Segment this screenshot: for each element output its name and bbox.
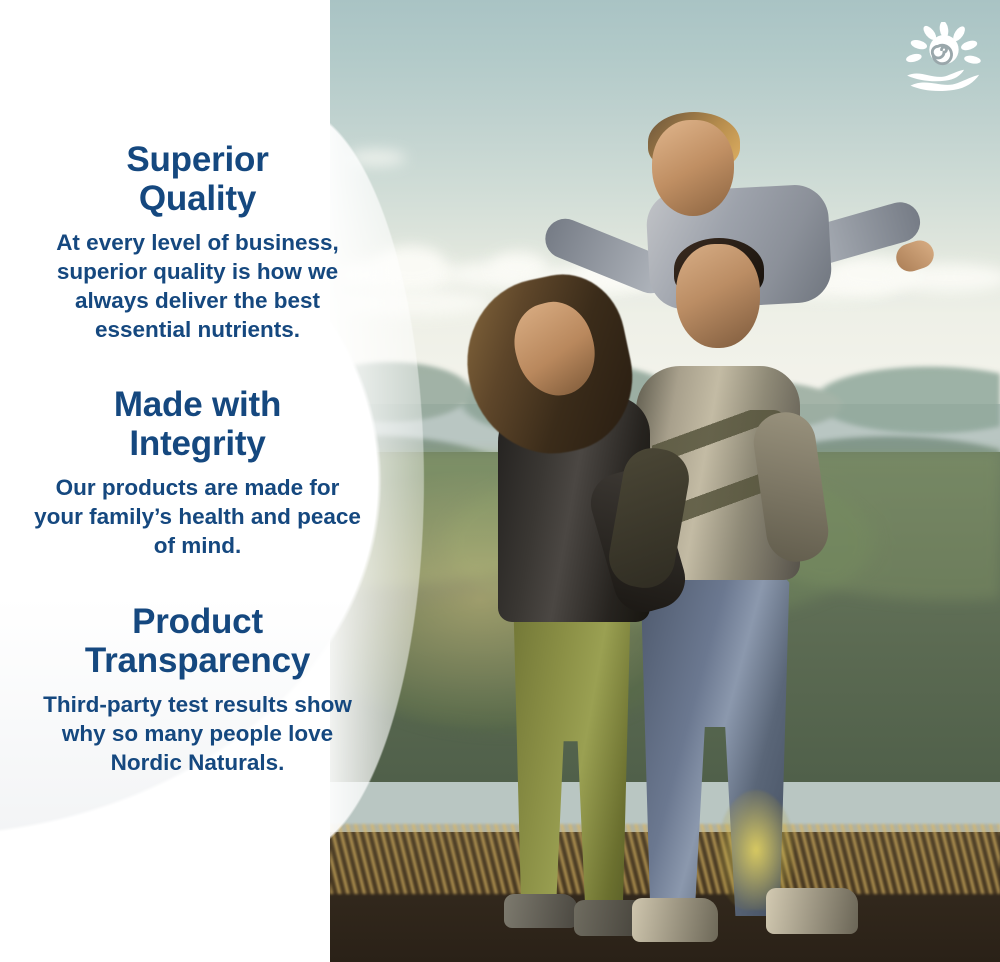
heading-line-2: Quality xyxy=(139,179,256,218)
heading-line-2: Transparency xyxy=(85,641,310,680)
value-block-heading: Superior Quality xyxy=(34,140,361,218)
heading-line-2: Integrity xyxy=(129,424,265,463)
man-head xyxy=(676,244,760,348)
nordic-naturals-logo xyxy=(902,22,986,94)
heading-line-1: Superior xyxy=(126,140,268,179)
heading-line-1: Product xyxy=(132,602,263,641)
value-block-heading: Product Transparency xyxy=(34,602,361,680)
man-shoe xyxy=(766,888,858,934)
woman-shoe xyxy=(504,894,578,928)
promo-banner: Superior Quality At every level of busin… xyxy=(0,0,1000,962)
value-block-superior-quality: Superior Quality At every level of busin… xyxy=(0,140,395,344)
value-block-heading: Made with Integrity xyxy=(34,385,361,463)
value-block-product-transparency: Product Transparency Third-party test re… xyxy=(0,602,395,777)
value-block-body: Third-party test results show why so man… xyxy=(34,690,361,777)
sun-wave-logo-icon xyxy=(905,22,981,91)
child-head xyxy=(652,120,734,216)
value-block-body: Our products are made for your family’s … xyxy=(34,473,361,560)
value-block-body: At every level of business, superior qua… xyxy=(34,228,361,344)
value-block-made-with-integrity: Made with Integrity Our products are mad… xyxy=(0,385,395,560)
heading-line-1: Made with xyxy=(114,385,281,424)
man-shoe xyxy=(632,898,718,942)
